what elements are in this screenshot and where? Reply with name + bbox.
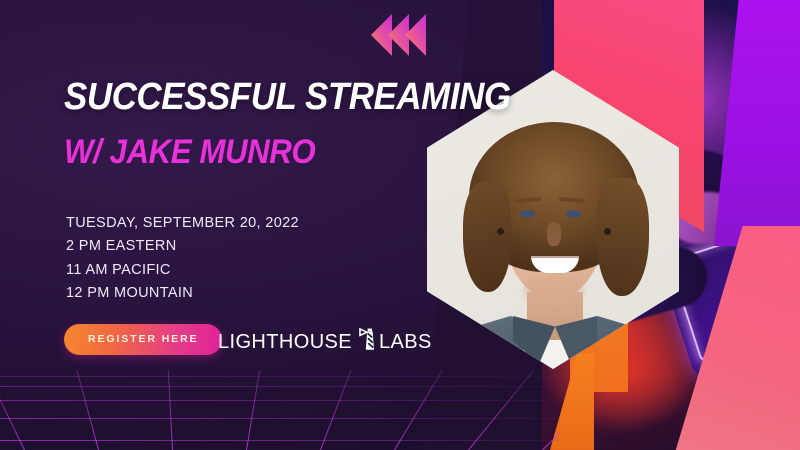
triple-chevron-left-logo <box>362 12 434 58</box>
grid-line-vertical <box>320 370 367 450</box>
portrait-hair-right <box>597 178 649 296</box>
event-subtitle: W/ JAKE MUNRO <box>64 135 450 169</box>
webinar-promo-banner: SUCCESSFUL STREAMING W/ JAKE MUNRO TUESD… <box>0 0 800 450</box>
portrait-nose <box>547 222 561 246</box>
grid-line-vertical <box>542 370 560 450</box>
event-schedule: TUESDAY, SEPTEMBER 20, 2022 2 PM EASTERN… <box>66 212 299 306</box>
schedule-eastern: 2 PM EASTERN <box>66 235 299 258</box>
logo-text-labs: LABS <box>379 332 432 352</box>
portrait-chin <box>523 276 585 306</box>
schedule-pacific: 11 AM PACIFIC <box>66 259 299 282</box>
event-title: SUCCESSFUL STREAMING <box>64 78 450 116</box>
grid-line-vertical <box>0 370 25 450</box>
logo-text-lighthouse: LIGHTHOUSE <box>218 332 352 352</box>
grid-line-vertical <box>246 370 268 450</box>
portrait-eye-right <box>566 210 581 218</box>
lighthouse-labs-logo: LIGHTHOUSE LABS <box>218 326 432 357</box>
grid-line-vertical <box>468 370 550 450</box>
retro-perspective-grid <box>0 370 560 450</box>
portrait-earring-left <box>497 228 504 235</box>
grid-line-vertical <box>165 370 173 450</box>
grid-line-horizontal <box>0 376 560 377</box>
schedule-mountain: 12 PM MOUNTAIN <box>66 282 299 305</box>
schedule-date: TUESDAY, SEPTEMBER 20, 2022 <box>66 212 299 235</box>
portrait-earring-right <box>604 228 611 235</box>
grid-line-horizontal <box>0 386 560 387</box>
register-here-button[interactable]: REGISTER HERE <box>64 324 222 355</box>
grid-line-vertical <box>65 370 99 450</box>
lighthouse-icon <box>354 326 376 357</box>
portrait-hair-left <box>463 182 511 292</box>
grid-line-horizontal <box>0 418 560 419</box>
grid-line-vertical <box>394 370 461 450</box>
portrait-eye-left <box>520 210 535 218</box>
